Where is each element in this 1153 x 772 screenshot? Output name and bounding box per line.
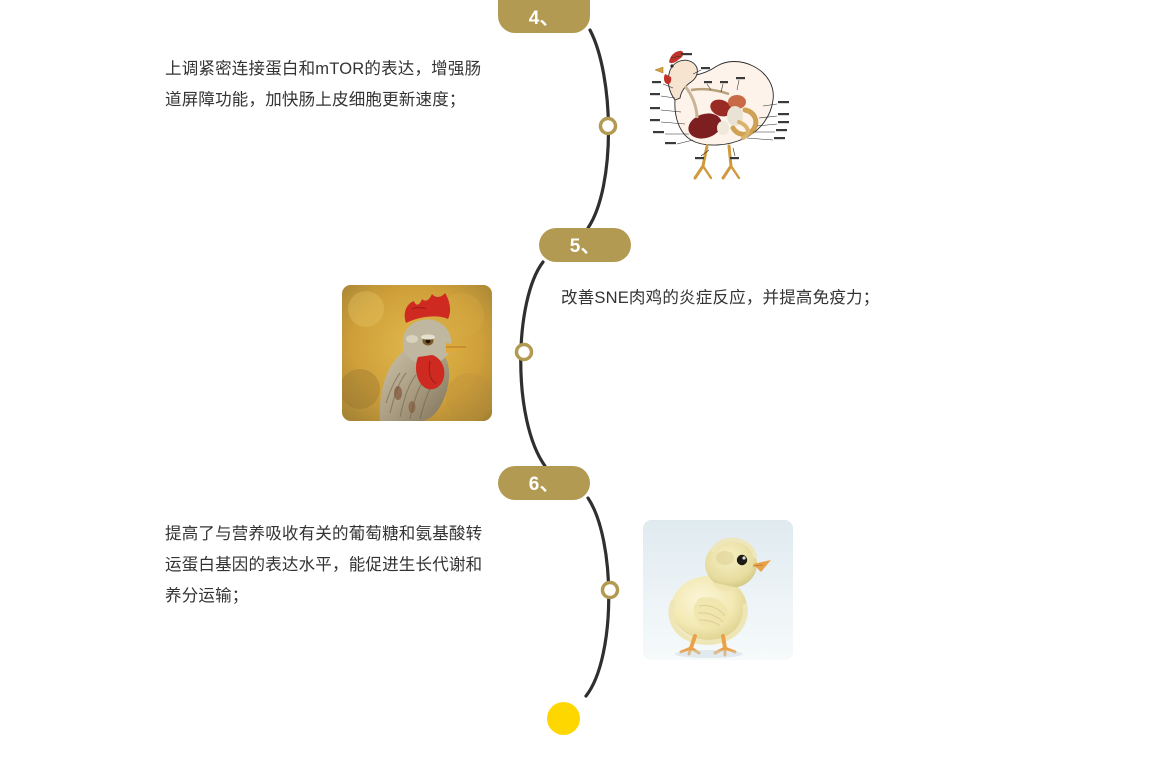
step-badge-6-label: 6、 [529,469,560,496]
chicken-anatomy-diagram [641,38,793,190]
step-text-4: 上调紧密连接蛋白和mTOR的表达，增强肠 道屏障功能，加快肠上皮细胞更新速度； [165,54,575,116]
step-badge-4[interactable]: 4、 [498,0,590,33]
step-badge-6[interactable]: 6、 [498,466,590,500]
step-badge-5[interactable]: 5、 [539,228,631,262]
ring-node-icon-1 [601,119,616,134]
ring-node-icon-2 [517,345,532,360]
connector-segment-6-end [586,498,609,696]
connector-segment-5-6 [521,262,545,466]
connector-segment-4-5 [588,30,609,228]
step-text-5: 改善SNE肉鸡的炎症反应，并提高免疫力； [561,283,981,314]
infographic-timeline: 4、 上调紧密连接蛋白和mTOR的表达，增强肠 道屏障功能，加快肠上皮细胞更新速… [0,0,1153,772]
step-text-6: 提高了与营养吸收有关的葡萄糖和氨基酸转 运蛋白基因的表达水平，能促进生长代谢和 … [165,519,575,612]
step-badge-5-label: 5、 [570,231,601,258]
ring-node-icon-3 [603,583,618,598]
yellow-dot-icon [547,702,580,735]
baby-chick-photo [643,520,793,660]
rooster-head-photo [342,285,492,421]
step-badge-4-label: 4、 [529,3,560,30]
